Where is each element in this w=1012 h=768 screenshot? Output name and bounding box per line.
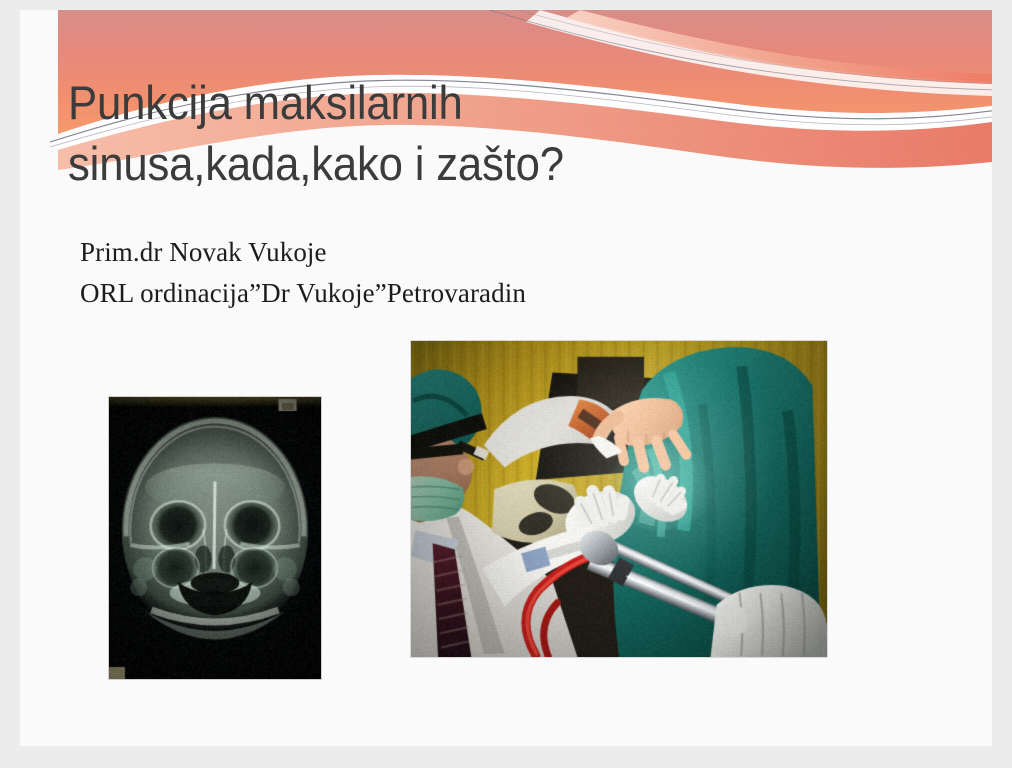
presentation-slide: Punkcija maksilarnih sinusa,kada,kako i … <box>20 10 992 746</box>
skull-xray-image: Waters view skull radiograph showing max… <box>108 396 322 680</box>
page-title: Punkcija maksilarnih sinusa,kada,kako i … <box>68 72 788 194</box>
title-line-1: Punkcija maksilarnih <box>68 72 738 133</box>
subtitle-line-author: Prim.dr Novak Vukoje <box>80 232 840 273</box>
subtitle-line-affiliation: ORL ordinacija”Dr Vukoje”Petrovaradin <box>80 273 840 314</box>
sinus-puncture-photo: Doctor performing maxillary sinus punctu… <box>410 340 828 658</box>
photo-alt-text: Doctor performing maxillary sinus punctu… <box>411 657 412 658</box>
subtitle: Prim.dr Novak Vukoje ORL ordinacija”Dr V… <box>80 232 840 313</box>
slide-viewport: Punkcija maksilarnih sinusa,kada,kako i … <box>0 0 1012 768</box>
title-line-2: sinusa,kada,kako i zašto? <box>68 133 738 194</box>
xray-alt-text: Waters view skull radiograph showing max… <box>109 679 110 680</box>
